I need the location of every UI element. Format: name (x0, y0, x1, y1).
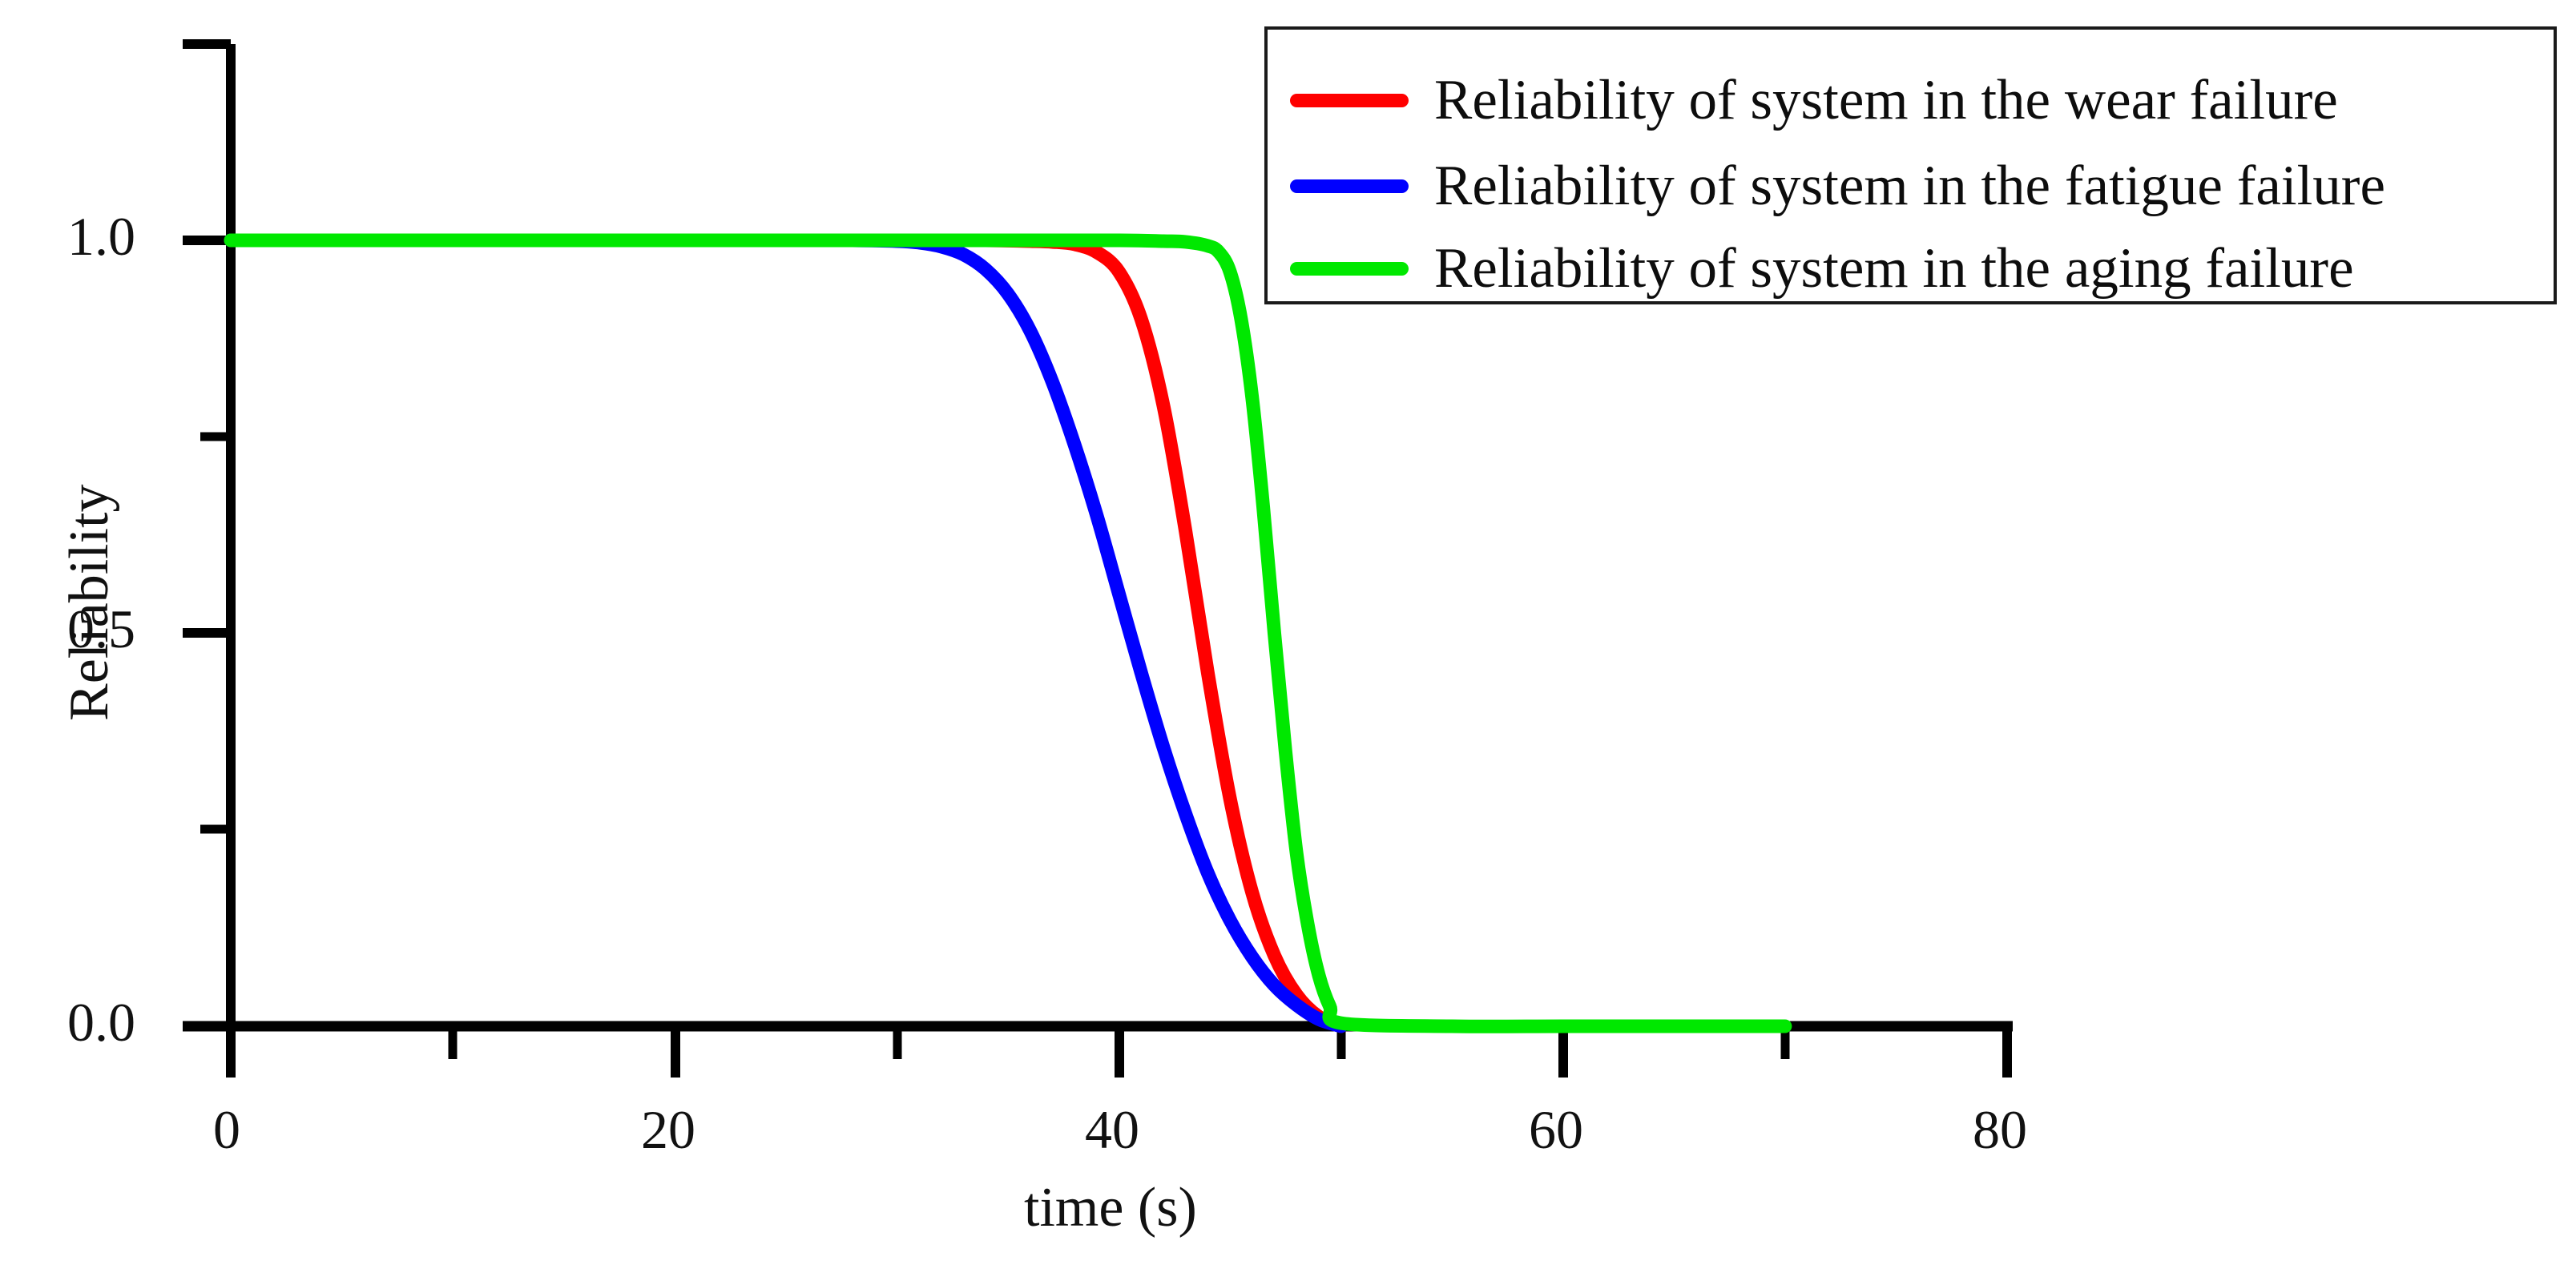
y-axis-title: Reliability (58, 484, 122, 721)
data-curves-group (231, 240, 1785, 1026)
legend-item-fatigue[interactable]: Reliability of system in the fatigue fai… (1268, 154, 2385, 218)
x-tick-label-60: 60 (1529, 1098, 1583, 1162)
legend-swatch-wear (1290, 94, 1409, 107)
y-tick-label-0: 0.0 (67, 991, 135, 1054)
series-line-1 (231, 240, 1341, 1026)
legend-swatch-fatigue (1290, 179, 1409, 193)
legend-item-wear[interactable]: Reliability of system in the wear failur… (1268, 68, 2338, 132)
y-major-ticks (183, 44, 231, 1026)
legend-swatch-aging (1290, 262, 1409, 276)
series-line-2 (231, 240, 1785, 1026)
x-tick-label-0: 0 (213, 1098, 240, 1162)
legend-item-aging[interactable]: Reliability of system in the aging failu… (1268, 236, 2354, 300)
legend-label-fatigue: Reliability of system in the fatigue fai… (1434, 158, 2385, 215)
x-tick-label-40: 40 (1085, 1098, 1139, 1162)
x-major-ticks (231, 1026, 2007, 1078)
x-tick-label-80: 80 (1973, 1098, 2027, 1162)
reliability-chart-figure: 1.0 0.5 0.0 0 20 40 60 80 Reliability ti… (0, 0, 2576, 1285)
y-tick-label-1: 1.0 (67, 205, 135, 268)
chart-legend: Reliability of system in the wear failur… (1264, 26, 2557, 304)
legend-label-wear: Reliability of system in the wear failur… (1434, 72, 2338, 129)
series-line-0 (231, 240, 1341, 1026)
x-axis-title: time (s) (1024, 1176, 1197, 1240)
legend-label-aging: Reliability of system in the aging failu… (1434, 240, 2354, 297)
x-tick-label-20: 20 (641, 1098, 695, 1162)
